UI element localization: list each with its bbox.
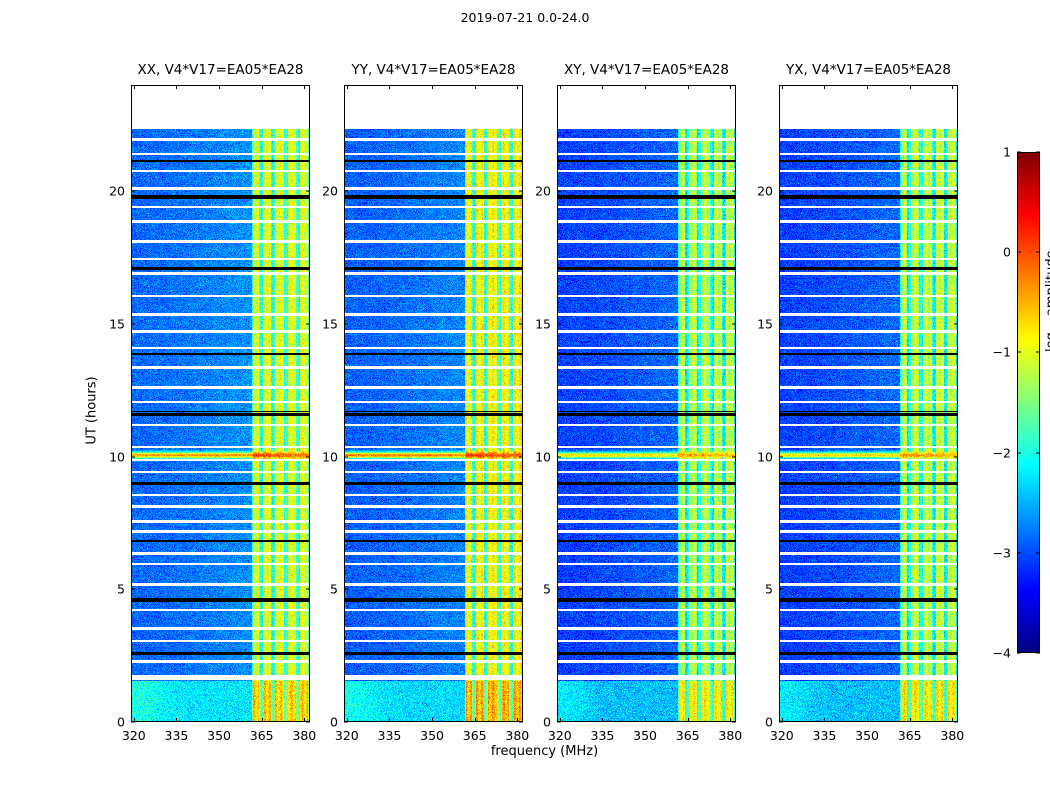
ytick-label-yy-2: 10 xyxy=(322,449,338,464)
ytick-label-yx-3: 15 xyxy=(757,316,773,331)
xtick-mark-xy-1 xyxy=(602,85,603,89)
ytick-label-xy-2: 10 xyxy=(535,449,551,464)
xtick-mark-xx-4 xyxy=(304,85,305,89)
waterfall-image-yy xyxy=(344,85,523,722)
xtick-mark-xx-2 xyxy=(219,85,220,89)
subplot-title-xx: XX, V4*V17=EA05*EA28 xyxy=(131,62,310,78)
subplot-xx[interactable]: XX, V4*V17=EA05*EA2805101520320335350365… xyxy=(131,85,310,722)
xtick-mark-yx-1 xyxy=(824,85,825,89)
y-axis-label: UT (hours) xyxy=(85,311,100,511)
xtick-label-yx-4: 380 xyxy=(940,728,964,743)
ytick-mark-yx-4 xyxy=(779,191,783,192)
ytick-mark-xy-3 xyxy=(732,323,736,324)
colorbar-tick-mark-2 xyxy=(1017,452,1021,453)
xtick-mark-xx-1 xyxy=(176,85,177,89)
subplot-yx[interactable]: YX, V4*V17=EA05*EA2805101520320335350365… xyxy=(779,85,958,722)
ytick-label-yy-3: 15 xyxy=(322,316,338,331)
x-axis-label: frequency (MHz) xyxy=(131,744,958,759)
xtick-mark-yy-1 xyxy=(389,718,390,722)
xtick-mark-yy-0 xyxy=(347,718,348,722)
ytick-mark-yx-3 xyxy=(954,323,958,324)
ytick-label-yx-2: 10 xyxy=(757,449,773,464)
ytick-mark-xy-3 xyxy=(557,323,561,324)
xtick-mark-yx-2 xyxy=(867,85,868,89)
ytick-label-yy-4: 20 xyxy=(322,184,338,199)
ytick-mark-yy-2 xyxy=(344,456,348,457)
ytick-mark-yx-1 xyxy=(779,589,783,590)
xtick-mark-xx-3 xyxy=(262,718,263,722)
ytick-mark-xy-1 xyxy=(557,589,561,590)
xtick-mark-yx-0 xyxy=(782,85,783,89)
xtick-label-xx-1: 335 xyxy=(165,728,189,743)
xtick-label-yx-0: 320 xyxy=(770,728,794,743)
ytick-mark-xx-4 xyxy=(306,191,310,192)
xtick-mark-yy-2 xyxy=(432,718,433,722)
ytick-mark-xx-2 xyxy=(306,456,310,457)
xtick-mark-yx-2 xyxy=(867,718,868,722)
colorbar-tick-mark-1 xyxy=(1017,552,1021,553)
xtick-mark-xx-4 xyxy=(304,718,305,722)
xtick-mark-yx-0 xyxy=(782,718,783,722)
xtick-label-yy-4: 380 xyxy=(505,728,529,743)
ytick-label-xx-3: 15 xyxy=(109,316,125,331)
ytick-label-xx-1: 5 xyxy=(117,582,125,597)
waterfall-image-xy xyxy=(557,85,736,722)
colorbar-label: log10 amplitude xyxy=(1044,191,1050,411)
ytick-mark-yy-1 xyxy=(519,589,523,590)
figure-canvas: 2019-07-21 0.0-24.0 UT (hours) frequency… xyxy=(0,0,1050,800)
xtick-mark-xx-3 xyxy=(262,85,263,89)
ytick-mark-xx-1 xyxy=(131,589,135,590)
ytick-mark-xy-2 xyxy=(732,456,736,457)
xtick-mark-xy-0 xyxy=(560,718,561,722)
xtick-label-xy-2: 350 xyxy=(633,728,657,743)
xtick-mark-yy-3 xyxy=(475,718,476,722)
xtick-mark-xy-4 xyxy=(730,85,731,89)
ytick-mark-yx-4 xyxy=(954,191,958,192)
figure-suptitle: 2019-07-21 0.0-24.0 xyxy=(0,10,1050,25)
colorbar-tick-mark-0 xyxy=(1017,653,1021,654)
subplot-title-yy: YY, V4*V17=EA05*EA28 xyxy=(344,62,523,78)
xtick-mark-xx-0 xyxy=(134,85,135,89)
subplot-title-yx: YX, V4*V17=EA05*EA28 xyxy=(779,62,958,78)
ytick-mark-xx-2 xyxy=(131,456,135,457)
xtick-label-xx-2: 350 xyxy=(207,728,231,743)
xtick-mark-xx-0 xyxy=(134,718,135,722)
ytick-mark-xx-3 xyxy=(131,323,135,324)
xtick-mark-yx-1 xyxy=(824,718,825,722)
ytick-mark-yx-2 xyxy=(779,456,783,457)
xtick-label-yx-1: 335 xyxy=(813,728,837,743)
colorbar-tick-label-2: −2 xyxy=(993,445,1011,460)
colorbar-tick-mark-4 xyxy=(1017,252,1021,253)
xtick-mark-yy-4 xyxy=(517,718,518,722)
ytick-mark-yx-1 xyxy=(954,589,958,590)
xtick-label-xy-0: 320 xyxy=(548,728,572,743)
xtick-label-yy-1: 335 xyxy=(378,728,402,743)
ytick-mark-yy-3 xyxy=(344,323,348,324)
subplot-xy[interactable]: XY, V4*V17=EA05*EA2805101520320335350365… xyxy=(557,85,736,722)
colorbar-tick-mark-1 xyxy=(1036,552,1040,553)
ytick-label-xy-3: 15 xyxy=(535,316,551,331)
ytick-mark-yx-3 xyxy=(779,323,783,324)
colorbar-tick-mark-5 xyxy=(1017,152,1021,153)
xtick-label-xy-1: 335 xyxy=(591,728,615,743)
ytick-mark-xy-2 xyxy=(557,456,561,457)
xtick-mark-xy-0 xyxy=(560,85,561,89)
xtick-mark-yx-3 xyxy=(910,718,911,722)
colorbar-tick-mark-0 xyxy=(1036,653,1040,654)
ytick-label-xx-4: 20 xyxy=(109,184,125,199)
colorbar-tick-mark-2 xyxy=(1036,452,1040,453)
ytick-mark-xy-4 xyxy=(557,191,561,192)
colorbar-tick-mark-3 xyxy=(1017,352,1021,353)
ytick-mark-yy-1 xyxy=(344,589,348,590)
ytick-mark-yy-0 xyxy=(519,722,523,723)
waterfall-image-yx xyxy=(779,85,958,722)
xtick-mark-yy-3 xyxy=(475,85,476,89)
xtick-label-xx-4: 380 xyxy=(292,728,316,743)
ytick-label-yy-1: 5 xyxy=(330,582,338,597)
ytick-label-xy-4: 20 xyxy=(535,184,551,199)
xtick-mark-yx-4 xyxy=(952,85,953,89)
ytick-mark-xy-1 xyxy=(732,589,736,590)
xtick-mark-xy-3 xyxy=(688,718,689,722)
xtick-label-xx-0: 320 xyxy=(122,728,146,743)
xtick-label-yy-0: 320 xyxy=(335,728,359,743)
xtick-mark-xx-1 xyxy=(176,718,177,722)
xtick-label-yy-3: 365 xyxy=(463,728,487,743)
colorbar-tick-mark-5 xyxy=(1036,152,1040,153)
xtick-label-xy-3: 365 xyxy=(676,728,700,743)
ytick-mark-yy-4 xyxy=(344,191,348,192)
xtick-mark-xy-4 xyxy=(730,718,731,722)
ytick-label-yx-4: 20 xyxy=(757,184,773,199)
colorbar-tick-label-3: −1 xyxy=(993,345,1011,360)
ytick-label-xx-2: 10 xyxy=(109,449,125,464)
ytick-label-xy-1: 5 xyxy=(543,582,551,597)
colorbar-tick-label-1: −3 xyxy=(993,545,1011,560)
ytick-mark-yy-4 xyxy=(519,191,523,192)
xtick-mark-xy-2 xyxy=(645,85,646,89)
colorbar-tick-label-4: 0 xyxy=(1003,245,1011,260)
xtick-mark-xy-1 xyxy=(602,718,603,722)
xtick-mark-yx-4 xyxy=(952,718,953,722)
xtick-mark-yy-4 xyxy=(517,85,518,89)
ytick-mark-yy-3 xyxy=(519,323,523,324)
ytick-mark-xy-0 xyxy=(732,722,736,723)
xtick-mark-xy-2 xyxy=(645,718,646,722)
colorbar-tick-mark-3 xyxy=(1036,352,1040,353)
xtick-mark-yx-3 xyxy=(910,85,911,89)
ytick-mark-yx-2 xyxy=(954,456,958,457)
colorbar-gradient xyxy=(1017,152,1040,653)
xtick-mark-xy-3 xyxy=(688,85,689,89)
ytick-mark-xx-4 xyxy=(131,191,135,192)
xtick-mark-xx-2 xyxy=(219,718,220,722)
xtick-label-yy-2: 350 xyxy=(420,728,444,743)
xtick-label-xx-3: 365 xyxy=(250,728,274,743)
colorbar-label-prefix: log xyxy=(1044,332,1050,352)
ytick-mark-xy-4 xyxy=(732,191,736,192)
xtick-label-yx-3: 365 xyxy=(898,728,922,743)
xtick-label-yx-2: 350 xyxy=(855,728,879,743)
ytick-mark-xx-0 xyxy=(306,722,310,723)
waterfall-image-xx xyxy=(131,85,310,722)
colorbar-tick-label-0: −4 xyxy=(993,646,1011,661)
colorbar-tick-mark-4 xyxy=(1036,252,1040,253)
subplot-title-xy: XY, V4*V17=EA05*EA28 xyxy=(557,62,736,78)
ytick-label-yx-1: 5 xyxy=(765,582,773,597)
ytick-mark-yx-0 xyxy=(954,722,958,723)
ytick-mark-xx-1 xyxy=(306,589,310,590)
colorbar[interactable]: −4−3−2−101 xyxy=(1017,152,1040,653)
xtick-mark-yy-0 xyxy=(347,85,348,89)
colorbar-tick-label-5: 1 xyxy=(1003,145,1011,160)
xtick-mark-yy-1 xyxy=(389,85,390,89)
subplot-yy[interactable]: YY, V4*V17=EA05*EA2805101520320335350365… xyxy=(344,85,523,722)
colorbar-label-suffix: amplitude xyxy=(1044,250,1050,320)
ytick-mark-yy-2 xyxy=(519,456,523,457)
xtick-label-xy-4: 380 xyxy=(718,728,742,743)
ytick-mark-xx-3 xyxy=(306,323,310,324)
xtick-mark-yy-2 xyxy=(432,85,433,89)
